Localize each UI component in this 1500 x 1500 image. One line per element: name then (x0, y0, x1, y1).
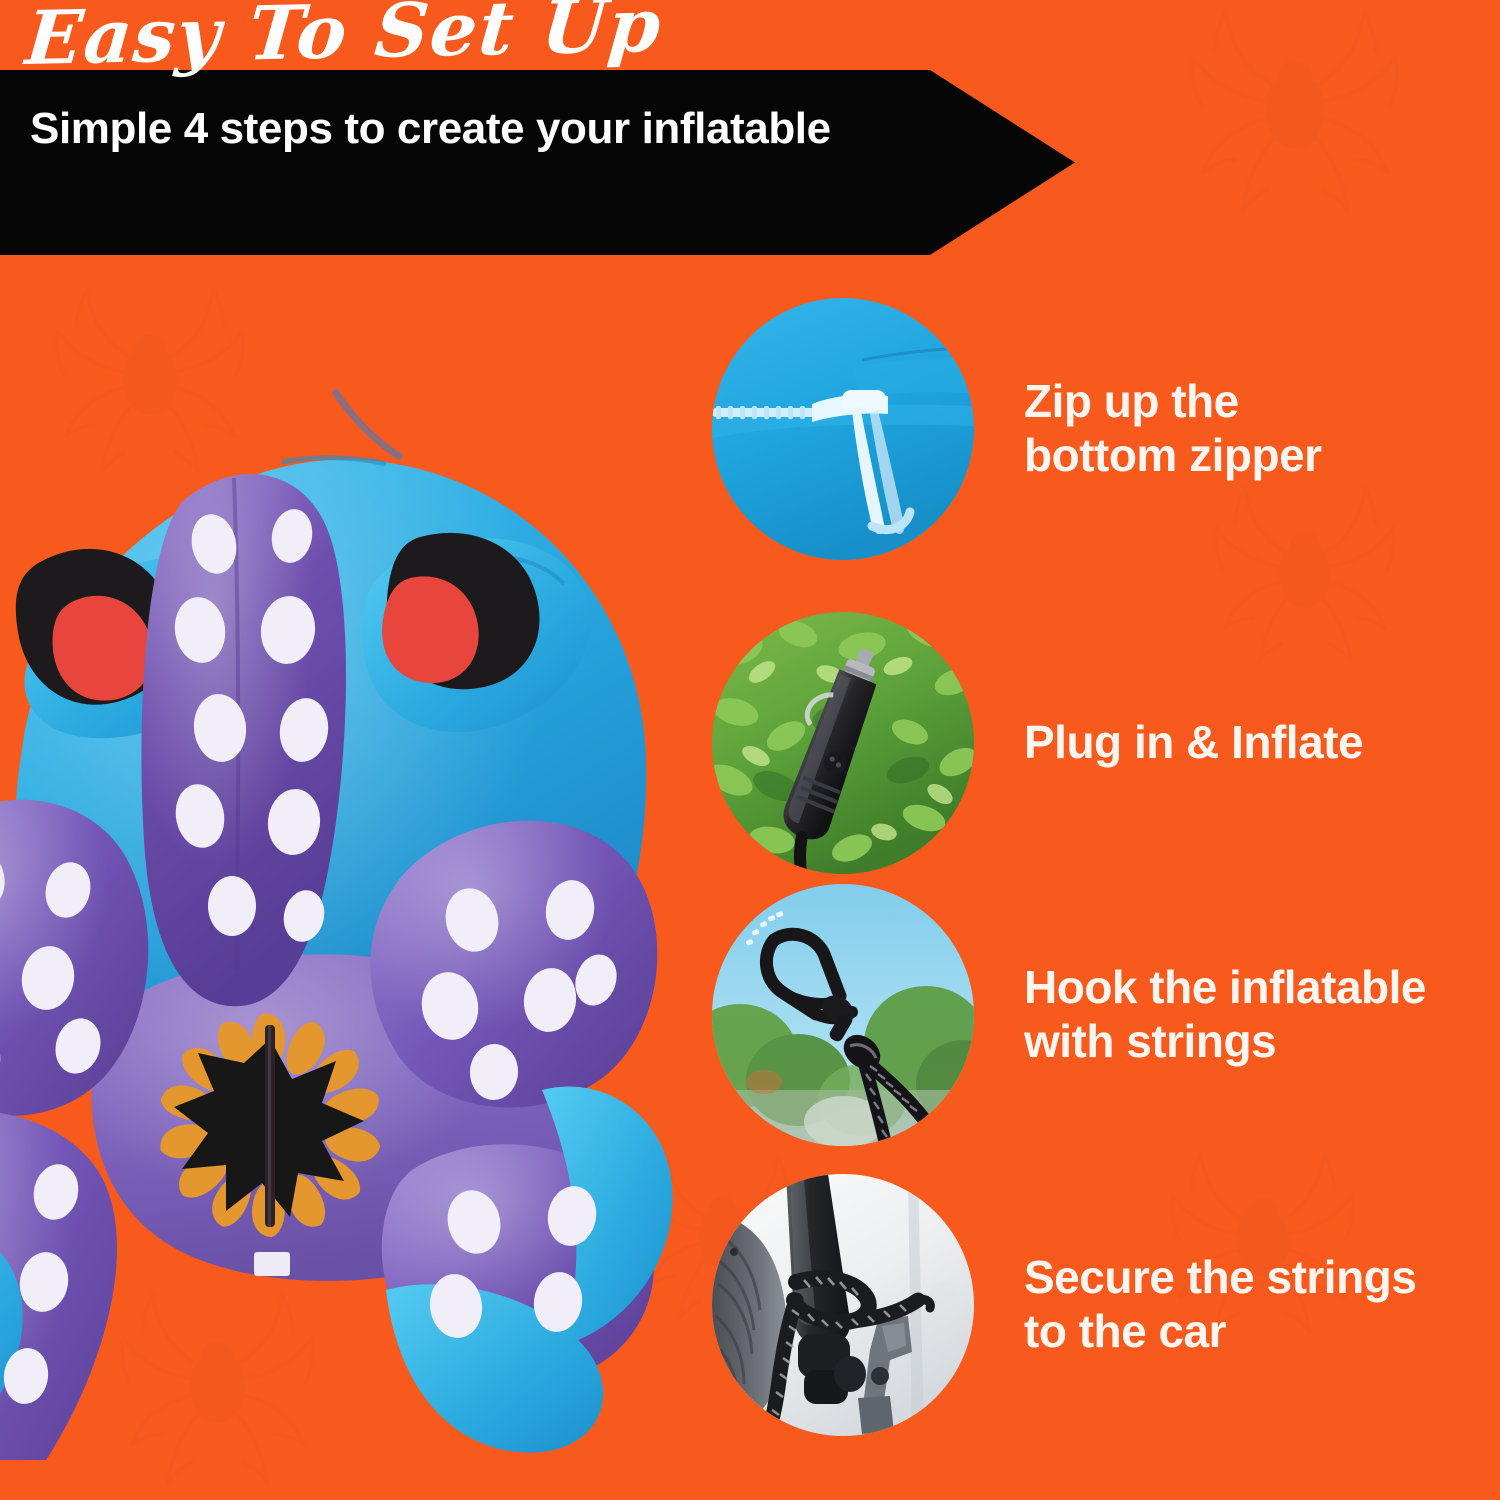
page-title: Easy To Set Up (22, 0, 665, 83)
car-plug-photo (712, 612, 974, 874)
infographic-page: Easy To Set Up Simple 4 steps to create … (0, 0, 1500, 1500)
step-row-2: Plug in & Inflate (712, 612, 1492, 874)
carabiner-photo (712, 884, 974, 1146)
step-label-4: Secure the strings to the car (1024, 1251, 1492, 1359)
step-label-2: Plug in & Inflate (1024, 716, 1492, 770)
page-subtitle: Simple 4 steps to create your inflatable (30, 104, 831, 154)
step-row-1: Zip up the bottom zipper (712, 298, 1492, 560)
header-banner (0, 70, 1075, 255)
inflatable-octopus-photo (0, 330, 702, 1460)
spider-icon (1180, 0, 1410, 220)
step-label-1: Zip up the bottom zipper (1024, 375, 1492, 483)
zipper-tag (254, 1252, 290, 1276)
step-row-4: Secure the strings to the car (712, 1174, 1492, 1436)
step-label-3: Hook the inflatable with strings (1024, 961, 1492, 1069)
zipper-photo (712, 298, 974, 560)
car-strap-photo (712, 1174, 974, 1436)
step-row-3: Hook the inflatable with strings (712, 884, 1492, 1146)
